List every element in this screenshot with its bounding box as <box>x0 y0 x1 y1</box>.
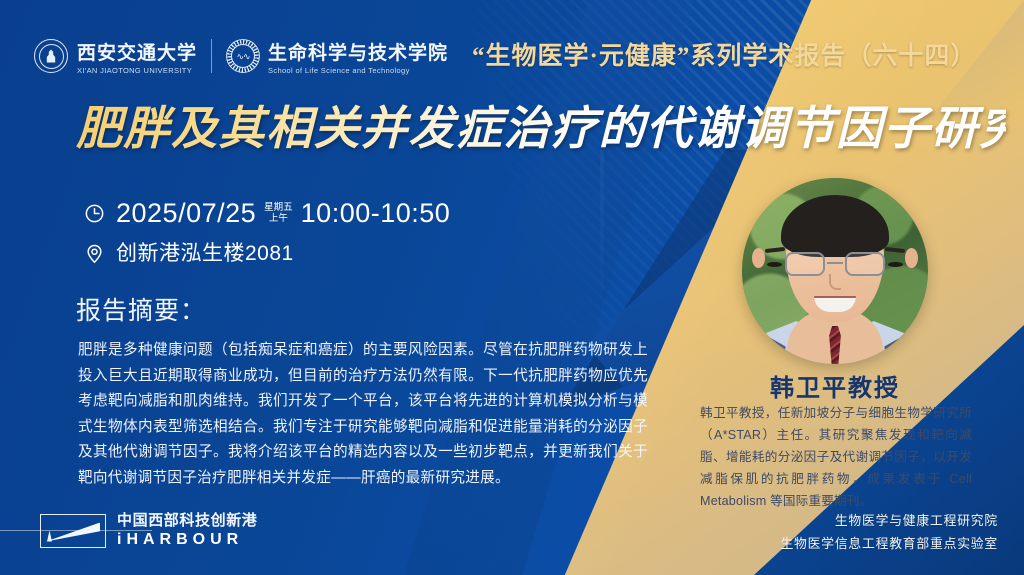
organizer-line-2: 生物医学信息工程教育部重点实验室 <box>780 532 998 555</box>
iharbour-mark-icon <box>40 514 106 548</box>
datetime-row: 2025/07/25 星期五 上午 10:00-10:50 <box>84 196 450 230</box>
location-row: 创新港泓生楼2081 <box>84 236 450 270</box>
iharbour-logo-text: 中国西部科技创新港 iHARBOUR <box>117 512 257 549</box>
event-period: 上午 <box>269 213 288 224</box>
series-title: “生物医学·元健康”系列学术报告（六十四） <box>472 44 976 69</box>
university-seal-icon <box>34 39 68 73</box>
event-weekday: 星期五 <box>264 202 293 213</box>
logo-divider <box>211 39 212 73</box>
university-name-en: XI'AN JIAOTONG UNIVERSITY <box>77 66 197 75</box>
iharbour-name-cn: 中国西部科技创新港 <box>117 512 257 529</box>
school-logo-text: 生命科学与技术学院 School of Life Science and Tec… <box>268 38 448 75</box>
school-name-cn: 生命科学与技术学院 <box>268 38 448 65</box>
location-pin-icon <box>84 243 105 264</box>
iharbour-name-en: iHARBOUR <box>117 530 257 549</box>
event-location: 创新港泓生楼2081 <box>116 243 294 264</box>
university-logo: 西安交通大学 XI'AN JIAOTONG UNIVERSITY <box>34 38 197 75</box>
abstract-heading: 报告摘要： <box>76 291 206 327</box>
organizer-line-1: 生物医学与健康工程研究院 <box>780 509 998 532</box>
page-title: 肥胖及其相关并发症治疗的代谢调节因子研究 <box>76 97 1006 159</box>
school-seal-icon: ∿∿ <box>226 39 260 73</box>
event-time: 10:00-10:50 <box>301 200 451 227</box>
poster-header: 西安交通大学 XI'AN JIAOTONG UNIVERSITY ∿∿ 生命科学… <box>34 30 998 82</box>
event-weekday-period: 星期五 上午 <box>264 202 293 224</box>
school-name-en: School of Life Science and Technology <box>268 66 448 75</box>
speaker-portrait-photo <box>742 178 928 364</box>
speaker-name: 韩卫平教授 <box>700 368 970 403</box>
speaker-bio: 韩卫平教授，任新加坡分子与细胞生物学研究所（A*STAR）主任。其研究聚焦发现和… <box>700 402 972 512</box>
school-logo: ∿∿ 生命科学与技术学院 School of Life Science and … <box>226 38 448 75</box>
university-logo-text: 西安交通大学 XI'AN JIAOTONG UNIVERSITY <box>77 38 197 75</box>
organizer-info: 生物医学与健康工程研究院 生物医学信息工程教育部重点实验室 <box>780 509 998 555</box>
clock-icon <box>84 203 105 224</box>
iharbour-logo: 中国西部科技创新港 iHARBOUR <box>40 512 257 549</box>
event-date: 2025/07/25 <box>116 200 256 227</box>
university-name-cn: 西安交通大学 <box>77 38 197 65</box>
abstract-body: 肥胖是多种健康问题（包括痴呆症和癌症）的主要风险因素。尽管在抗肥胖药物研发上投入… <box>78 338 648 491</box>
seminar-poster: 西安交通大学 XI'AN JIAOTONG UNIVERSITY ∿∿ 生命科学… <box>0 0 1024 575</box>
event-meta: 2025/07/25 星期五 上午 10:00-10:50 创新港泓生楼2081 <box>84 196 450 270</box>
